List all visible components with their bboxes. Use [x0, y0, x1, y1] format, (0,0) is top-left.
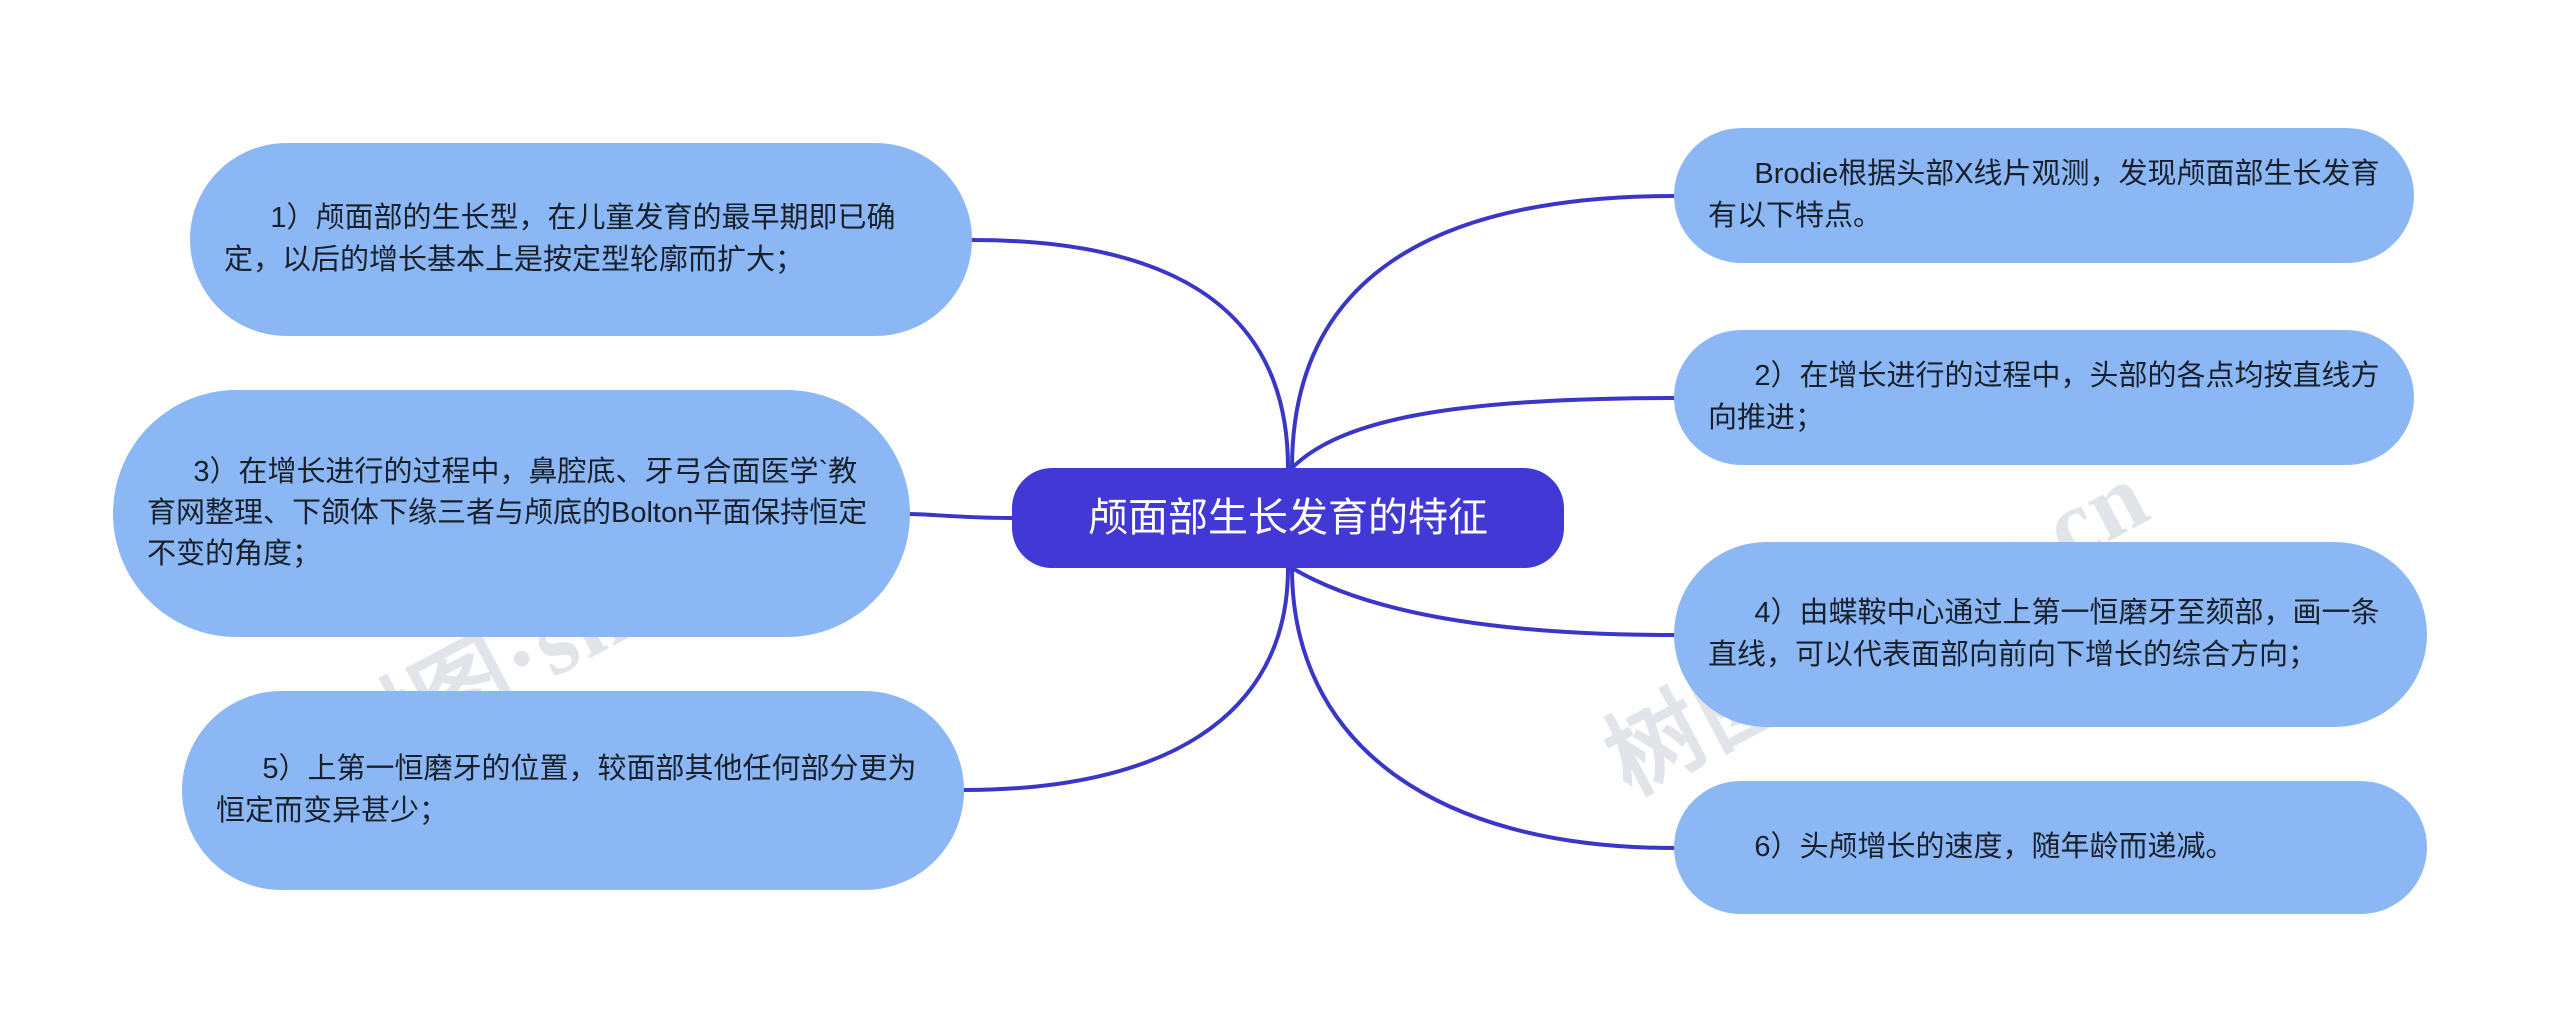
branch-node-right-4[interactable]: 4）由蝶鞍中心通过上第一恒磨牙至颏部，画一条直线，可以代表面部向前向下增长的综合… — [1674, 542, 2427, 727]
root-node[interactable]: 颅面部生长发育的特征 — [1012, 468, 1564, 568]
branch-node-left-3-label: 3）在增长进行的过程中，鼻腔底、牙弓合面医学`教育网整理、下颌体下缘三者与颅底的… — [147, 452, 876, 576]
branch-node-right-2-label: 2）在增长进行的过程中，头部的各点均按直线方向推进； — [1708, 356, 2380, 438]
branch-node-right-0-label: Brodie根据头部X线片观测，发现颅面部生长发育有以下特点。 — [1708, 154, 2380, 236]
branch-node-left-5-label: 5）上第一恒磨牙的位置，较面部其他任何部分更为恒定而变异甚少； — [216, 749, 930, 831]
mindmap-canvas: 树图·shutu.cn 树图·shutu.cn 1）颅面部的生长型，在儿童发育的… — [0, 0, 2560, 1035]
branch-node-left-1[interactable]: 1）颅面部的生长型，在儿童发育的最早期即已确定，以后的增长基本上是按定型轮廓而扩… — [190, 143, 972, 336]
edge-root-to-left-5 — [964, 568, 1288, 790]
branch-node-left-1-label: 1）颅面部的生长型，在儿童发育的最早期即已确定，以后的增长基本上是按定型轮廓而扩… — [224, 198, 938, 280]
branch-node-right-2[interactable]: 2）在增长进行的过程中，头部的各点均按直线方向推进； — [1674, 330, 2414, 465]
root-node-label: 颅面部生长发育的特征 — [1046, 490, 1530, 547]
branch-node-right-0[interactable]: Brodie根据头部X线片观测，发现颅面部生长发育有以下特点。 — [1674, 128, 2414, 263]
edge-root-to-left-1 — [972, 240, 1288, 468]
edge-root-to-right-2 — [1292, 398, 1674, 468]
branch-node-right-6[interactable]: 6）头颅增长的速度，随年龄而递减。 — [1674, 781, 2427, 914]
edge-root-to-left-3 — [910, 514, 1012, 518]
edge-root-to-right-4 — [1292, 568, 1674, 635]
branch-node-right-6-label: 6）头颅增长的速度，随年龄而递减。 — [1708, 827, 2393, 868]
branch-node-right-4-label: 4）由蝶鞍中心通过上第一恒磨牙至颏部，画一条直线，可以代表面部向前向下增长的综合… — [1708, 593, 2393, 675]
branch-node-left-3[interactable]: 3）在增长进行的过程中，鼻腔底、牙弓合面医学`教育网整理、下颌体下缘三者与颅底的… — [113, 390, 910, 637]
edge-root-to-right-0 — [1292, 196, 1674, 468]
branch-node-left-5[interactable]: 5）上第一恒磨牙的位置，较面部其他任何部分更为恒定而变异甚少； — [182, 691, 964, 890]
